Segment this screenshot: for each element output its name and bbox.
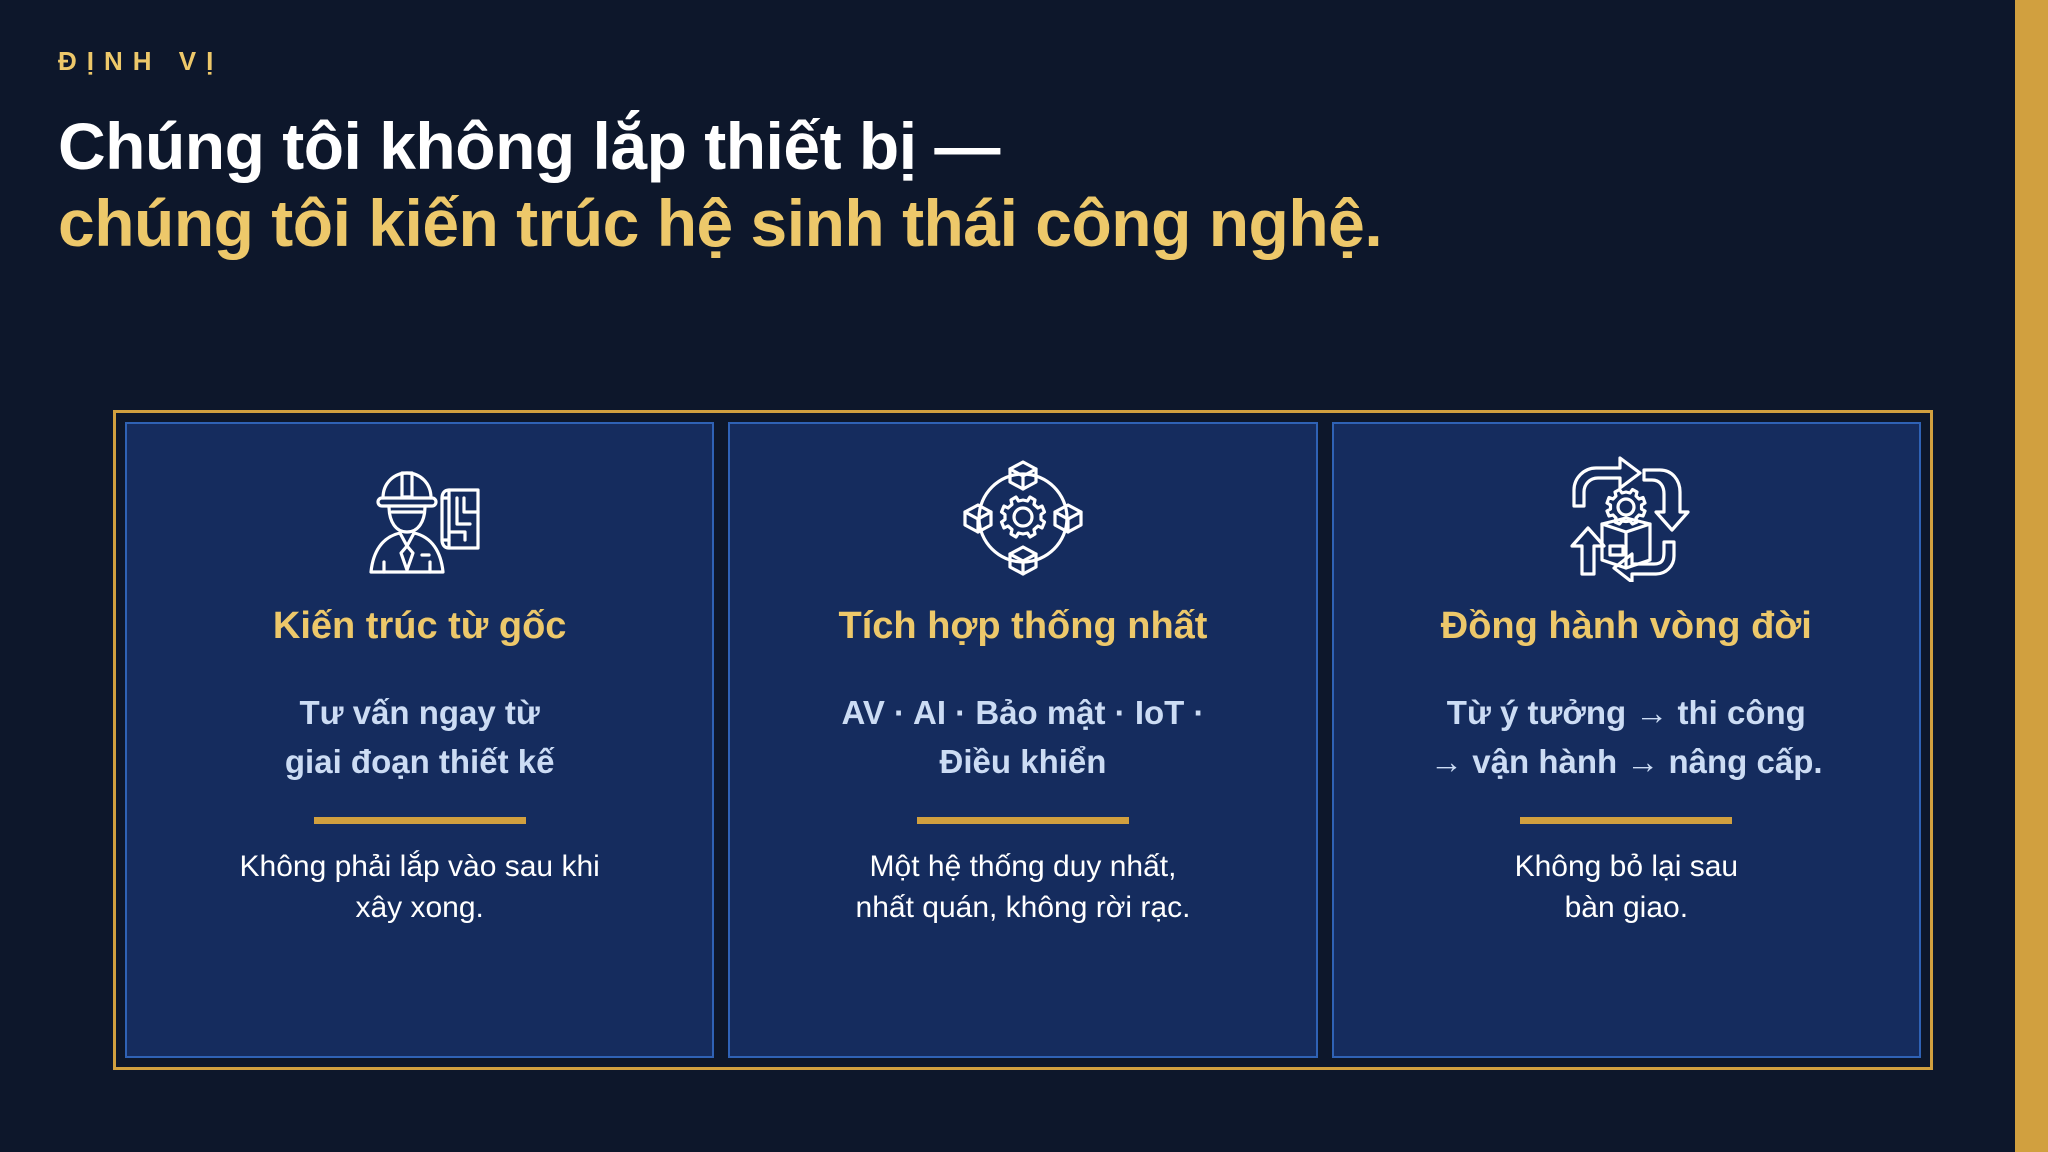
card-divider — [1520, 817, 1732, 824]
cards-frame: Kiến trúc từ gốc Tư vấn ngay từ giai đoạ… — [113, 410, 1933, 1070]
card-subtitle-line: Từ ý tưởng → thi công — [1430, 688, 1822, 738]
card-note-line: Không phải lắp vào sau khi — [240, 846, 600, 887]
lifecycle-box-gear-arrows-icon — [1560, 452, 1692, 584]
card-subtitle-line: giai đoạn thiết kế — [285, 737, 555, 787]
card-subtitle-line: Tư vấn ngay từ — [285, 688, 555, 738]
card-note-line: nhất quán, không rời rạc. — [856, 887, 1191, 928]
card-subtitle: AV · AI · Bảo mật · IoT · Điều khiển — [842, 688, 1205, 787]
gear-network-nodes-icon — [959, 452, 1087, 584]
card-subtitle-line: AV · AI · Bảo mật · IoT · — [842, 688, 1205, 738]
headline-line-1: Chúng tôi không lắp thiết bị — — [58, 108, 1758, 185]
card-tich-hop-thong-nhat[interactable]: Tích hợp thống nhất AV · AI · Bảo mật · … — [728, 422, 1317, 1058]
card-subtitle-line: → vận hành → nâng cấp. — [1430, 737, 1822, 787]
card-subtitle-line: Điều khiển — [842, 737, 1205, 787]
card-note: Một hệ thống duy nhất, nhất quán, không … — [856, 846, 1191, 929]
right-gold-edge-bar — [2015, 0, 2048, 1152]
engineer-blueprint-icon — [356, 452, 484, 584]
card-note-line: bàn giao. — [1515, 887, 1739, 928]
card-divider — [314, 817, 526, 824]
card-note-line: Không bỏ lại sau — [1515, 846, 1739, 887]
headline-line-2: chúng tôi kiến trúc hệ sinh thái công ng… — [58, 185, 1758, 262]
card-note: Không phải lắp vào sau khi xây xong. — [240, 846, 600, 929]
card-subtitle: Tư vấn ngay từ giai đoạn thiết kế — [285, 688, 555, 787]
card-divider — [917, 817, 1129, 824]
card-title: Đồng hành vòng đời — [1441, 604, 1812, 650]
card-subtitle: Từ ý tưởng → thi công → vận hành → nâng … — [1430, 688, 1822, 787]
card-title: Kiến trúc từ gốc — [273, 604, 567, 650]
card-dong-hanh-vong-doi[interactable]: Đồng hành vòng đời Từ ý tưởng → thi công… — [1332, 422, 1921, 1058]
eyebrow-label: ĐỊNH VỊ — [58, 48, 1758, 74]
card-note-line: xây xong. — [240, 887, 600, 928]
card-note-line: Một hệ thống duy nhất, — [856, 846, 1191, 887]
header: ĐỊNH VỊ Chúng tôi không lắp thiết bị — c… — [58, 48, 1758, 261]
card-note: Không bỏ lại sau bàn giao. — [1515, 846, 1739, 929]
card-kien-truc-tu-goc[interactable]: Kiến trúc từ gốc Tư vấn ngay từ giai đoạ… — [125, 422, 714, 1058]
card-title: Tích hợp thống nhất — [839, 604, 1208, 650]
